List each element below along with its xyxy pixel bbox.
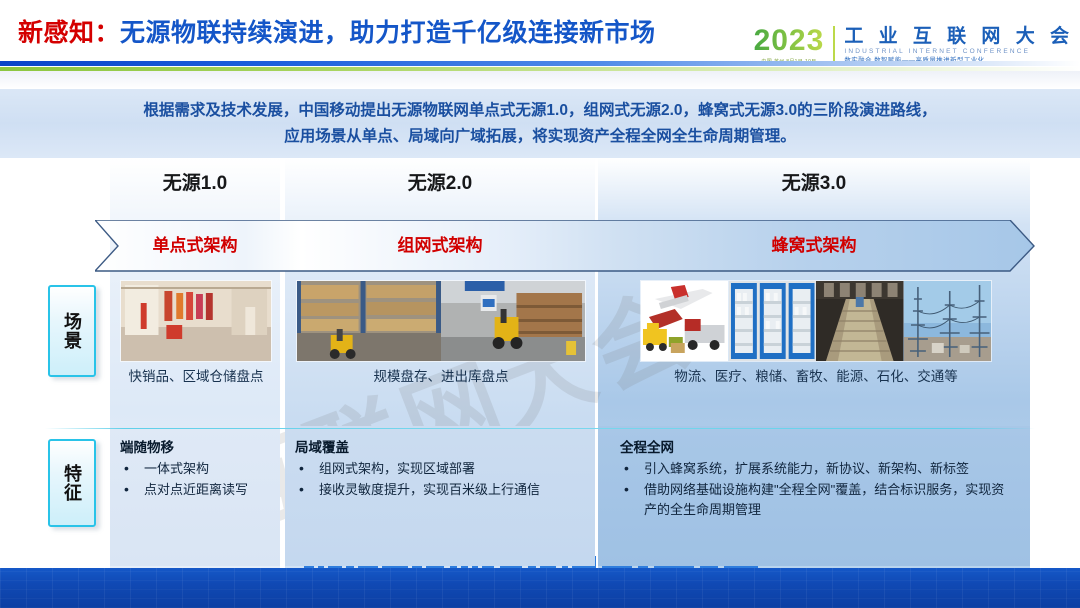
page-title: 新感知：无源物联持续演进，助力打造千亿级连接新市场 [18, 13, 656, 49]
scene-caption-3: 物流、医疗、粮储、畜牧、能源、石化、交通等 [640, 367, 992, 386]
summary-line-1: 根据需求及技术发展，中国移动提出无源物联网单点式无源1.0，组网式无源2.0，蜂… [143, 98, 936, 124]
feature-item-text: 借助网络基础设施构建"全程全网"覆盖，结合标识服务，实现资产的全生命周期管理 [644, 482, 1004, 517]
slide-header: 新感知：无源物联持续演进，助力打造千亿级连接新市场 2023 中国·苏州 8月1… [0, 0, 1080, 68]
feature-item: • 组网式架构，实现区域部署 [295, 459, 591, 479]
page-title-prefix: 新感知： [18, 19, 120, 47]
row-label-feature-text: 特征 [61, 464, 83, 502]
feature-cell-3: 全程全网 • 引入蜂窝系统，扩展系统能力，新协议、新架构、新标签 • 借助网络基… [620, 438, 1010, 521]
column-title-3: 无源3.0 [598, 170, 1030, 198]
feature-item: • 点对点近距离读写 [120, 480, 280, 500]
bullet-icon: • [299, 479, 304, 499]
row-label-scene: 场景 [48, 285, 96, 377]
summary-banner: 根据需求及技术发展，中国移动提出无源物联网单点式无源1.0，组网式无源2.0，蜂… [0, 89, 1080, 158]
footer-band [0, 568, 1080, 608]
photo-power-grid-towers [904, 281, 992, 361]
feature-item: • 一体式架构 [120, 459, 280, 479]
bullet-icon: • [124, 479, 129, 499]
scene-cell-1: 快销品、区域仓储盘点 [120, 280, 272, 386]
column-title-1: 无源1.0 [110, 170, 280, 198]
scene-images-3 [640, 280, 992, 362]
scene-images-2 [296, 280, 586, 362]
photo-warehouse-loading-dock [441, 281, 585, 361]
feature-item-text: 一体式架构 [144, 461, 209, 476]
scene-caption-2: 规模盘存、进出库盘点 [296, 367, 586, 386]
architecture-label-2: 组网式架构 [285, 220, 595, 272]
photo-grain-silo-sacks [816, 281, 904, 361]
feature-cell-2: 局域覆盖 • 组网式架构，实现区域部署 • 接收灵敏度提升，实现百米级上行通信 [295, 438, 591, 501]
feature-head-3: 全程全网 [620, 438, 1010, 458]
feature-item-text: 接收灵敏度提升，实现百米级上行通信 [319, 482, 540, 497]
architecture-label-1: 单点式架构 [110, 220, 280, 272]
photo-logistics-plane-truck [641, 281, 729, 361]
feature-cell-1: 端随物移 • 一体式架构 • 点对点近距离读写 [120, 438, 280, 501]
bullet-icon: • [124, 458, 129, 478]
logo-english-name: INDUSTRIAL INTERNET CONFERENCE [844, 47, 1074, 56]
photo-medical-storage-cabinets [729, 281, 817, 361]
logo-name-block: 工 业 互 联 网 大 会 INDUSTRIAL INTERNET CONFER… [844, 26, 1074, 66]
feature-item: • 借助网络基础设施构建"全程全网"覆盖，结合标识服务，实现资产的全生命周期管理 [620, 480, 1010, 520]
logo-chinese-name: 工 业 互 联 网 大 会 [844, 26, 1074, 47]
column-title-2: 无源2.0 [285, 170, 595, 198]
footer-grid-pattern [0, 568, 1080, 608]
feature-item: • 引入蜂窝系统，扩展系统能力，新协议、新架构、新标签 [620, 459, 1010, 479]
summary-line-2: 应用场景从单点、局域向广域拓展，将实现资产全程全网全生命周期管理。 [284, 124, 796, 150]
logo-divider [833, 26, 835, 66]
logo-year-text: 2023 [754, 26, 825, 56]
main-canvas: 互联网大会 2023工业 无源1.0 无源2.0 无源3.0 [0, 158, 1080, 578]
bullet-icon: • [624, 458, 629, 478]
row-label-scene-text: 场景 [61, 312, 83, 350]
feature-item-text: 点对点近距离读写 [144, 482, 248, 497]
scene-cell-3: 物流、医疗、粮储、畜牧、能源、石化、交通等 [640, 280, 992, 386]
feature-item: • 接收灵敏度提升，实现百米级上行通信 [295, 480, 591, 500]
feature-item-text: 引入蜂窝系统，扩展系统能力，新协议、新架构、新标签 [644, 461, 969, 476]
feature-head-1: 端随物移 [120, 438, 280, 458]
bullet-icon: • [624, 479, 629, 499]
feature-list-2: • 组网式架构，实现区域部署 • 接收灵敏度提升，实现百米级上行通信 [295, 459, 591, 500]
header-blue-rule [0, 61, 1080, 66]
logo-year-block: 2023 中国·苏州 8月1日-10日 [754, 26, 834, 65]
feature-item-text: 组网式架构，实现区域部署 [319, 461, 475, 476]
photo-warehouse-racking-forklift [297, 281, 441, 361]
bullet-icon: • [299, 458, 304, 478]
header-wash [0, 71, 1080, 89]
scene-cell-2: 规模盘存、进出库盘点 [296, 280, 586, 386]
scene-caption-1: 快销品、区域仓储盘点 [120, 367, 272, 386]
page-title-main: 无源物联持续演进，助力打造千亿级连接新市场 [120, 19, 656, 47]
feature-list-3: • 引入蜂窝系统，扩展系统能力，新协议、新架构、新标签 • 借助网络基础设施构建… [620, 459, 1010, 520]
row-label-feature: 特征 [48, 439, 96, 527]
scene-images-1 [120, 280, 272, 362]
row-separator [45, 428, 1035, 429]
slide-root: 新感知：无源物联持续演进，助力打造千亿级连接新市场 2023 中国·苏州 8月1… [0, 0, 1080, 608]
photo-retail-store-interior [121, 281, 271, 361]
feature-list-1: • 一体式架构 • 点对点近距离读写 [120, 459, 280, 500]
architecture-label-3: 蜂窝式架构 [598, 220, 1030, 272]
feature-head-2: 局域覆盖 [295, 438, 591, 458]
